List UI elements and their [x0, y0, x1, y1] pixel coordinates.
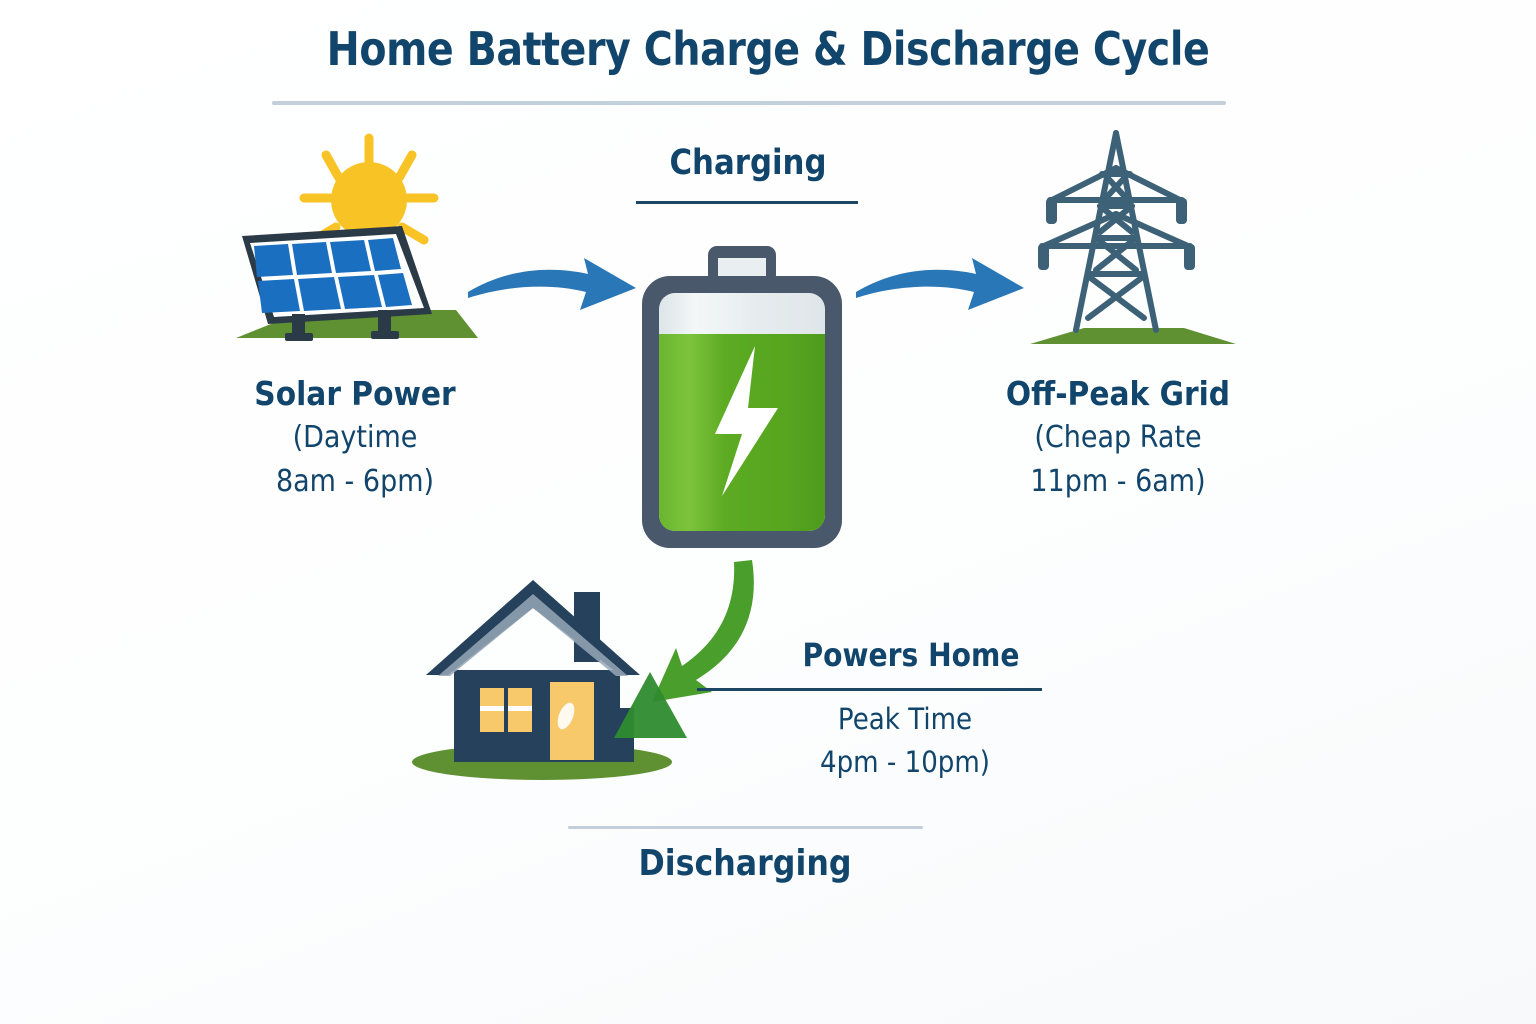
discharging-divider [568, 826, 923, 829]
solar-caption-sub-2: 8am - 6pm) [202, 460, 508, 504]
powers-home-heading: Powers Home [801, 636, 1021, 674]
solar-caption-title: Solar Power [202, 372, 508, 416]
solar-caption: Solar Power (Daytime 8am - 6pm) [202, 372, 508, 504]
charging-underline [636, 201, 858, 204]
grid-caption: Off-Peak Grid (Cheap Rate 11pm - 6am) [965, 372, 1271, 504]
house-caption-sub-2: 4pm - 10pm) [775, 741, 1036, 784]
house-illustration [402, 560, 687, 792]
solar-caption-sub-1: (Daytime [202, 416, 508, 460]
arrow-solar-to-battery [460, 248, 645, 333]
page-title: Home Battery Charge & Discharge Cycle [108, 22, 1429, 76]
power-pylon-illustration [1016, 118, 1248, 358]
curved-arrow-right-icon [856, 258, 1024, 310]
infographic-canvas: Home Battery Charge & Discharge Cycle [0, 0, 1536, 1024]
ground-patch-icon [1030, 328, 1236, 344]
battery-illustration [630, 238, 870, 558]
house-body [454, 670, 620, 762]
solar-panel-illustration [226, 128, 486, 358]
bush [614, 672, 687, 738]
title-divider [272, 101, 1226, 105]
curved-arrow-right-icon [468, 258, 636, 310]
charging-heading: Charging [660, 143, 836, 183]
grid-caption-title: Off-Peak Grid [965, 372, 1271, 416]
arrow-battery-to-grid [848, 248, 1033, 333]
house-caption-sub-1: Peak Time [775, 698, 1036, 741]
powers-home-underline [697, 688, 1042, 691]
door [550, 682, 594, 760]
power-pylon-icon [1042, 133, 1190, 330]
grid-caption-sub-2: 11pm - 6am) [965, 460, 1271, 504]
house-caption: Peak Time 4pm - 10pm) [775, 698, 1036, 784]
grid-caption-sub-1: (Cheap Rate [965, 416, 1271, 460]
discharging-heading: Discharging [591, 843, 899, 884]
